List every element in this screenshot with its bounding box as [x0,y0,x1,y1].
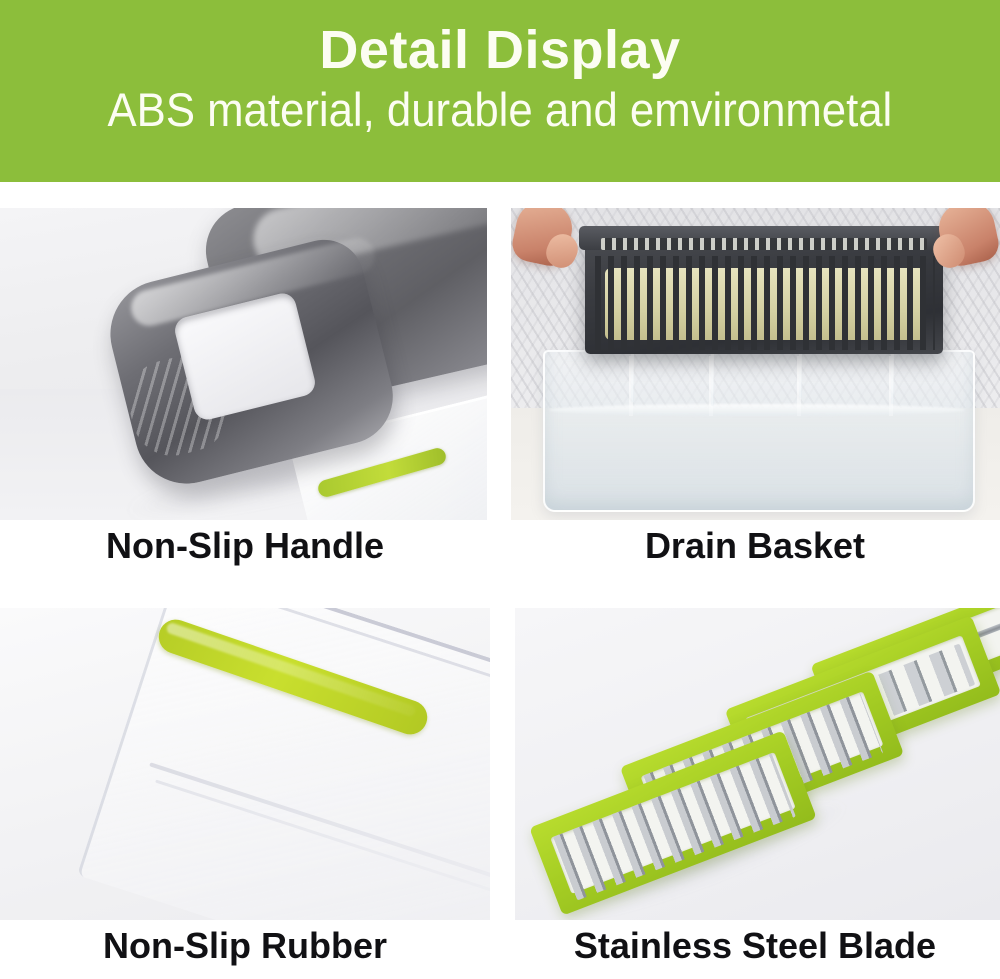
caption-non-slip-handle: Non-Slip Handle [0,526,490,566]
basket-top-vents [601,238,927,250]
caption-stainless-steel-blade: Stainless Steel Blade [510,926,1000,966]
page-title: Detail Display [319,20,680,80]
page-subtitle: ABS material, durable and emvironmetal [108,82,893,138]
caption-non-slip-rubber: Non-Slip Rubber [0,926,490,966]
water-drip [631,348,634,402]
panel-stainless-steel-blade [515,608,1000,920]
photo-non-slip-handle [0,208,487,520]
clear-water-container [543,350,975,512]
photo-stainless-steel-blade [515,608,1000,920]
detail-display-page: Detail Display ABS material, durable and… [0,0,1000,979]
basket-slot-bars [595,256,935,350]
photo-drain-basket [511,208,1000,520]
water-surface [549,404,965,416]
panel-non-slip-handle [0,208,487,520]
water-drip [891,348,894,404]
feature-panel-grid: Non-Slip Handle Drain Basket Non-Slip Ru… [0,182,1000,979]
caption-drain-basket: Drain Basket [510,526,1000,566]
header-banner: Detail Display ABS material, durable and… [0,0,1000,182]
water-drip [799,348,802,398]
panel-drain-basket [511,208,1000,520]
panel-non-slip-rubber [0,608,490,920]
water-drip [711,348,714,406]
photo-non-slip-rubber [0,608,490,920]
